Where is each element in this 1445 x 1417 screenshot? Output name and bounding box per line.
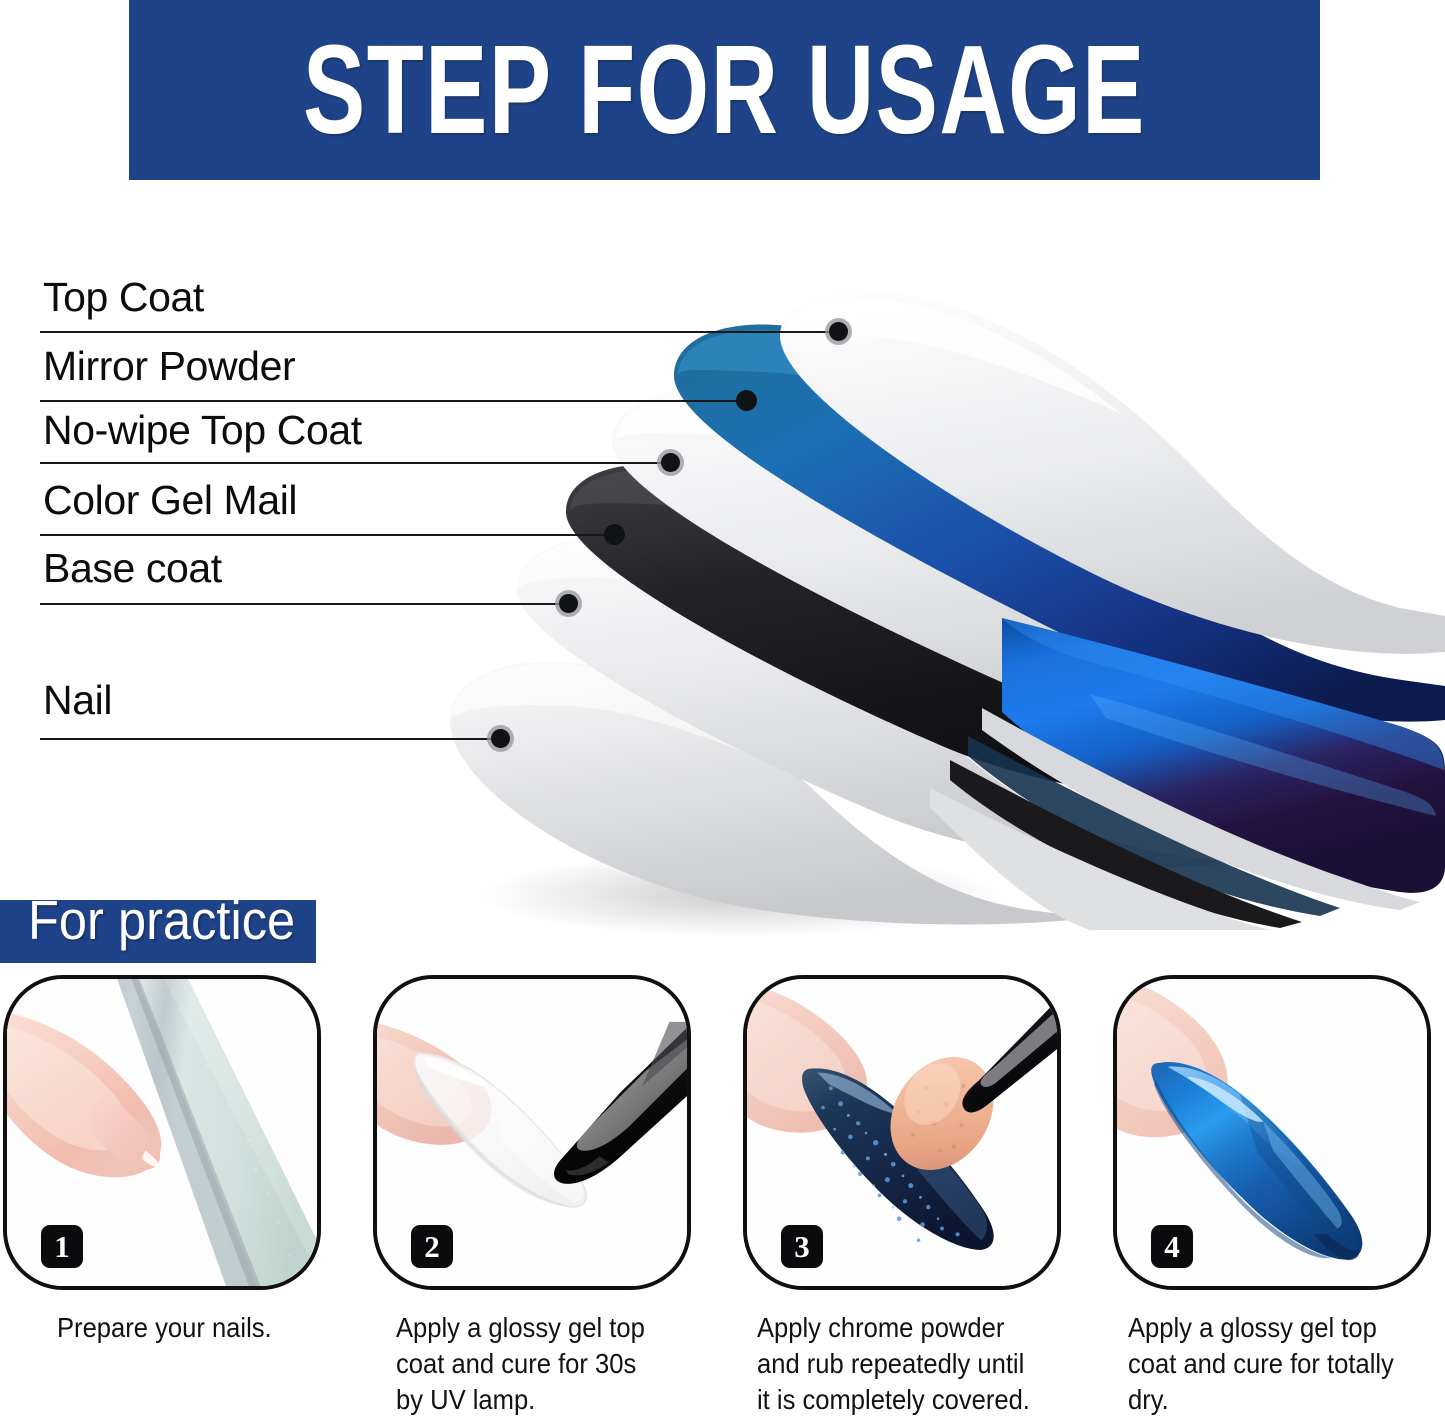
leader-dot-color-gel-mail <box>604 524 625 545</box>
step-caption-3-line-1: Apply chrome powder <box>757 1310 1041 1346</box>
step-badge-2: 2 <box>411 1225 453 1268</box>
legend-label-color-gel-mail: Color Gel Mail <box>43 480 297 521</box>
leader-line-no-wipe-top-coat <box>40 462 665 464</box>
leader-line-mirror-powder <box>40 400 750 402</box>
leader-line-color-gel-mail <box>40 534 610 536</box>
step-caption-3-line-2: and rub repeatedly until <box>757 1346 1041 1382</box>
step-card-4[interactable]: 4 <box>1113 975 1431 1290</box>
step-caption-2: Apply a glossy gel top coat and cure for… <box>396 1310 666 1417</box>
leader-dot-nail <box>491 729 510 748</box>
step-caption-4-line-2: coat and cure for totally <box>1128 1346 1412 1382</box>
legend-label-mirror-powder: Mirror Powder <box>43 346 295 387</box>
leader-line-top-coat <box>40 331 840 333</box>
step-caption-3-line-3: it is completely covered. <box>757 1382 1041 1417</box>
leader-dot-no-wipe-top-coat <box>661 453 680 472</box>
legend-label-nail: Nail <box>43 680 112 721</box>
step-badge-3: 3 <box>781 1225 823 1268</box>
step-card-2[interactable]: 2 <box>373 975 691 1290</box>
step-number-3: 3 <box>794 1231 810 1262</box>
step-caption-1: Prepare your nails. <box>57 1310 317 1346</box>
leader-dot-base-coat <box>559 594 578 613</box>
step-number-1: 1 <box>54 1231 70 1262</box>
step-caption-2-line-2: coat and cure for 30s <box>396 1346 666 1382</box>
leader-line-base-coat <box>40 603 563 605</box>
step-card-1[interactable]: 1 <box>3 975 321 1290</box>
step-caption-4-line-3: dry. <box>1128 1382 1412 1417</box>
leader-line-nail <box>40 738 493 740</box>
step-caption-4: Apply a glossy gel top coat and cure for… <box>1128 1310 1412 1417</box>
leader-dot-top-coat <box>829 322 848 341</box>
step-caption-3: Apply chrome powder and rub repeatedly u… <box>757 1310 1041 1417</box>
step-caption-2-line-3: by UV lamp. <box>396 1382 666 1417</box>
legend-label-base-coat: Base coat <box>43 548 222 589</box>
legend-label-top-coat: Top Coat <box>43 277 204 318</box>
step-badge-4: 4 <box>1151 1225 1193 1268</box>
step-caption-4-line-1: Apply a glossy gel top <box>1128 1310 1412 1346</box>
layer-legend: Top Coat Mirror Powder No-wipe Top Coat … <box>0 0 1445 900</box>
for-practice-label: For practice <box>28 893 295 948</box>
leader-dot-mirror-powder <box>736 390 757 411</box>
step-badge-1: 1 <box>41 1225 83 1268</box>
legend-label-no-wipe-top-coat: No-wipe Top Coat <box>43 410 362 451</box>
step-number-4: 4 <box>1164 1231 1180 1262</box>
step-caption-1-line-1: Prepare your nails. <box>57 1310 317 1346</box>
step-number-2: 2 <box>424 1231 440 1262</box>
step-card-3[interactable]: 3 <box>743 975 1061 1290</box>
step-caption-2-line-1: Apply a glossy gel top <box>396 1310 666 1346</box>
